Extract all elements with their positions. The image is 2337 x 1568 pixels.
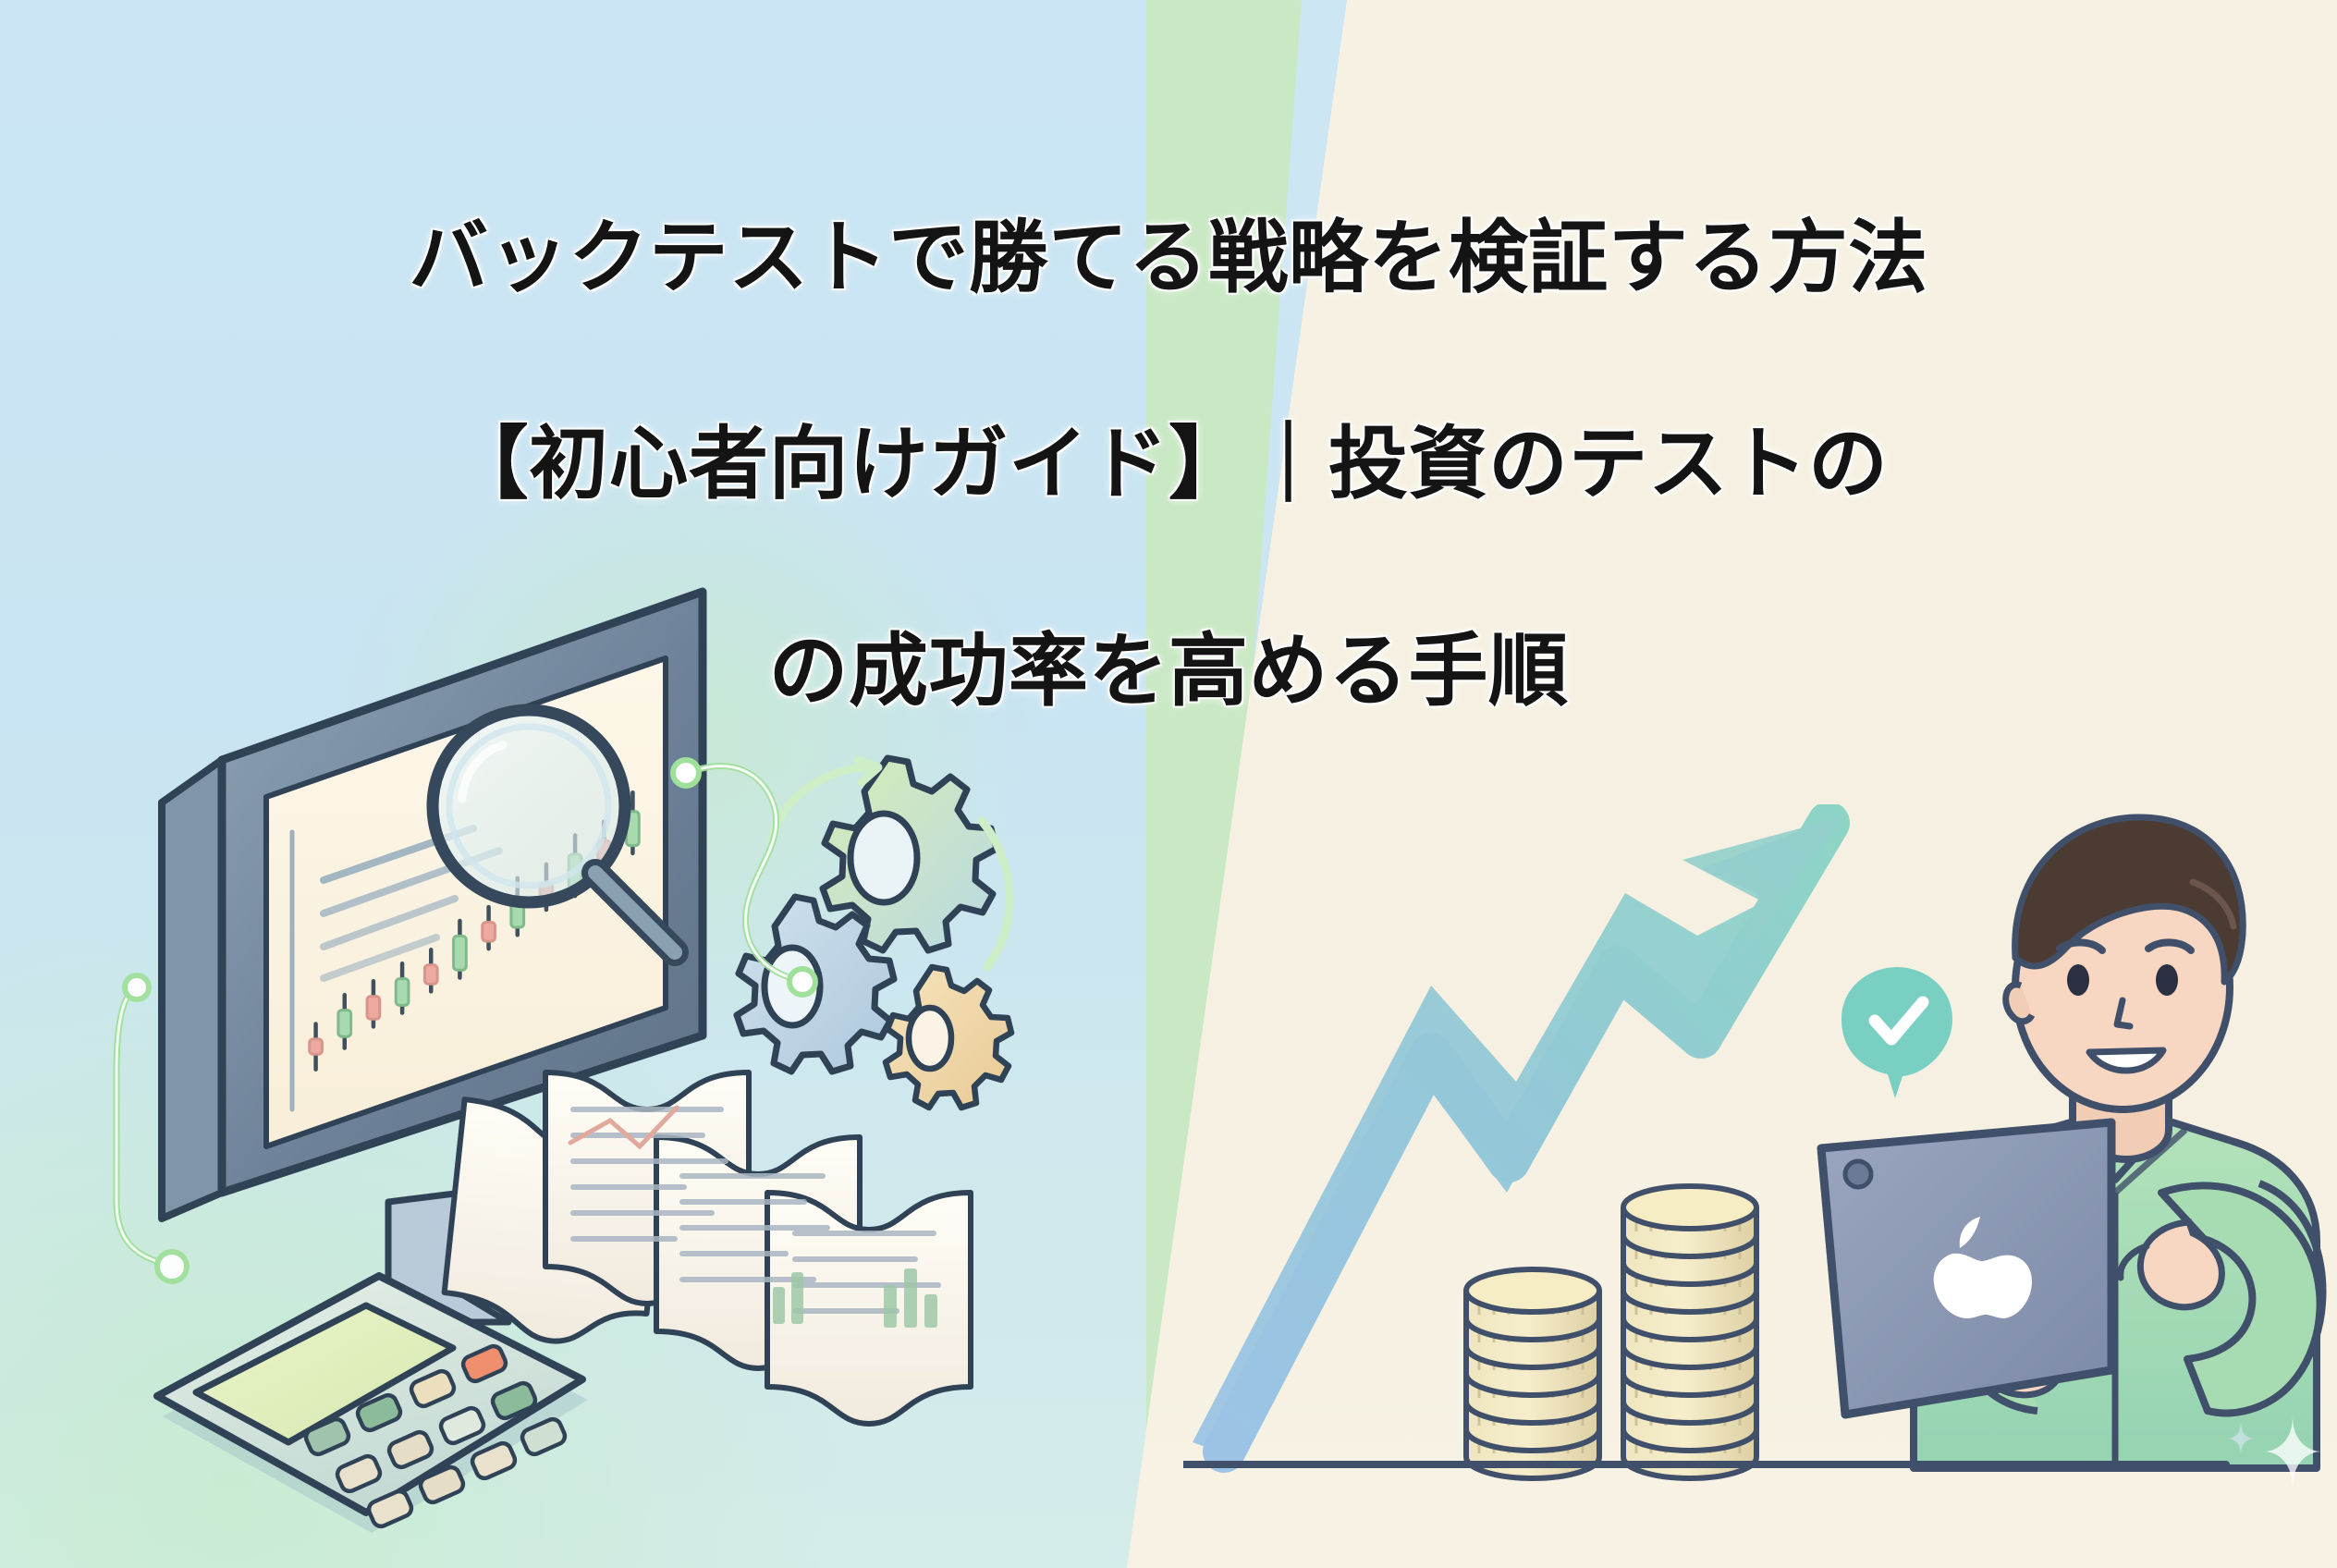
gear-small xyxy=(886,967,1011,1108)
candle-body xyxy=(483,922,496,941)
coin-stack-short xyxy=(1466,1269,1599,1478)
poster-canvas: バックテストで勝てる戦略を検証する方法 【初心者向けガイド】｜投資のテストの の… xyxy=(0,0,2337,1568)
tablet-device[interactable] xyxy=(1821,1122,2111,1415)
candle-body xyxy=(367,997,380,1020)
candle-body xyxy=(310,1039,323,1054)
coin-top xyxy=(1623,1186,1756,1229)
candle-body xyxy=(424,965,437,985)
eye-right xyxy=(2156,964,2178,996)
page-title-line-2: 【初心者向けガイド】｜投資のテストの xyxy=(55,413,2282,517)
verified-check-badge xyxy=(1841,967,1952,1098)
coin-top xyxy=(1466,1269,1599,1312)
eye-left xyxy=(2067,964,2089,996)
right-illustration xyxy=(1183,804,2337,1544)
page-title: バックテストで勝てる戦略を検証する方法 【初心者向けガイド】｜投資のテストの の… xyxy=(0,104,2337,827)
candle-body xyxy=(338,1011,351,1037)
page-title-line-3: の成功率を高める手順 xyxy=(55,620,2282,724)
tablet-camera xyxy=(1845,1161,1871,1187)
page-title-line-1: バックテストで勝てる戦略を検証する方法 xyxy=(55,207,2282,311)
coin-stack-tall xyxy=(1623,1186,1756,1478)
candle-body xyxy=(454,936,467,970)
candle-body xyxy=(396,979,409,1006)
